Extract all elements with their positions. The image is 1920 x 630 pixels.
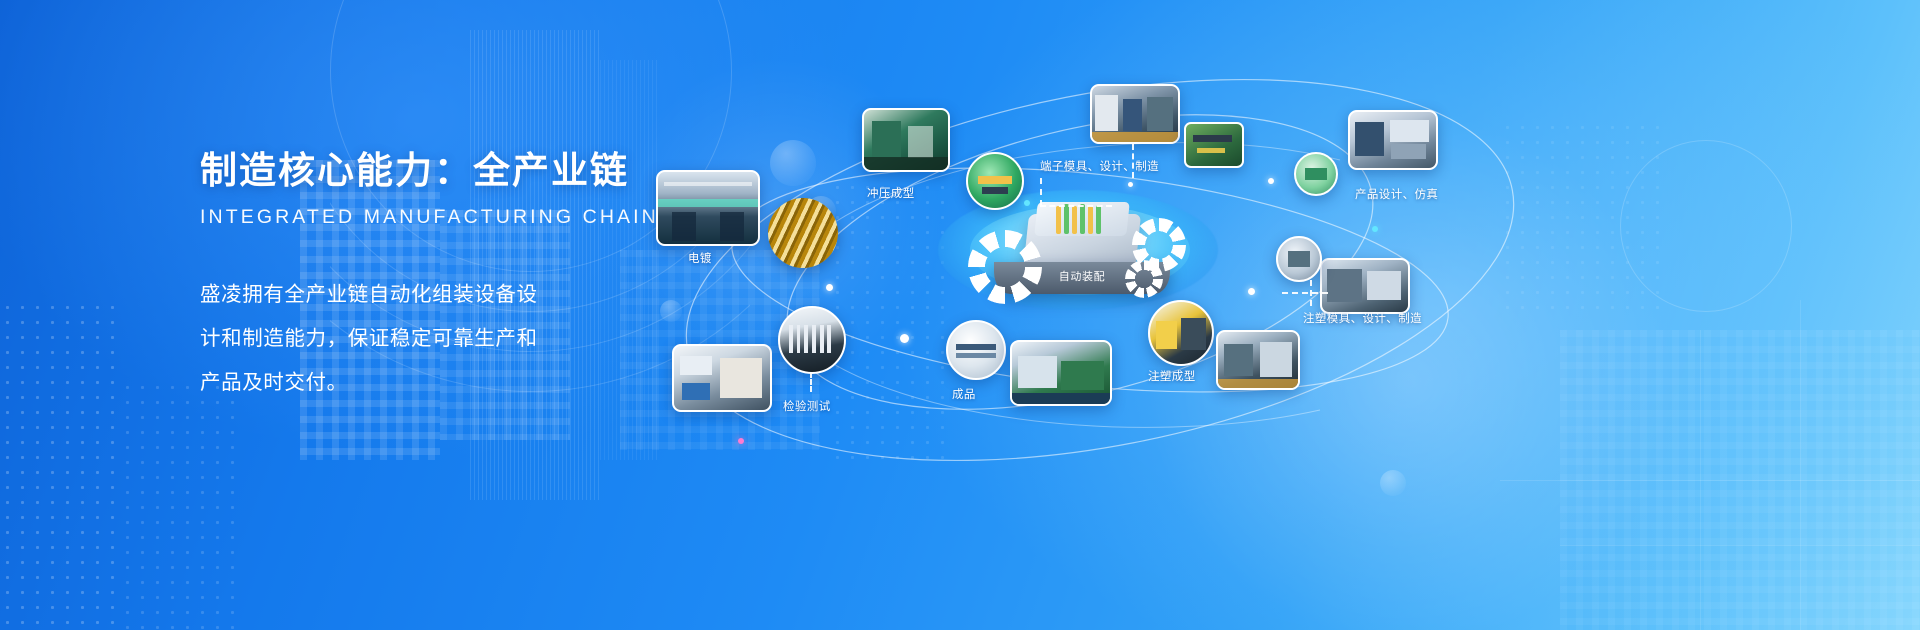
injection-mold-icon-circle xyxy=(1276,236,1322,282)
pcb-board-thumb xyxy=(1184,122,1244,168)
node-electroplating-thumb[interactable] xyxy=(656,170,760,246)
node-terminal-mold-connector xyxy=(1132,144,1134,178)
manufacturing-chain-diagram: 自动装配 电镀 冲压成型 xyxy=(620,0,1920,630)
product-design-icon-circle xyxy=(1294,152,1338,196)
page-subtitle: INTEGRATED MANUFACTURING CHAIN xyxy=(200,206,630,229)
node-stamping-thumb[interactable] xyxy=(862,108,950,172)
gear-large-left xyxy=(968,230,1042,304)
node-electroplating-label: 电镀 xyxy=(688,250,712,266)
connector-dash-vert-a xyxy=(1040,178,1042,206)
banner-stage: 制造核心能力：全产业链 INTEGRATED MANUFACTURING CHA… xyxy=(0,0,1920,630)
node-inspection-test-thumb[interactable] xyxy=(672,344,772,412)
node-injection-forming-label: 注塑成型 xyxy=(1148,368,1196,384)
node-terminal-mold-label: 端子模具、设计、制造 xyxy=(1040,158,1159,174)
orbit-dot-7 xyxy=(738,438,744,444)
connector-dash-mid xyxy=(1282,292,1328,294)
orbit-dot-1 xyxy=(900,334,909,343)
orbit-dot-5 xyxy=(1024,200,1030,206)
node-stamping-label: 冲压成型 xyxy=(867,185,915,201)
node-injection-mold-label: 注塑模具、设计、制造 xyxy=(1303,310,1422,326)
orbit-dot-4 xyxy=(1268,178,1274,184)
orbit-dot-6 xyxy=(1372,226,1378,232)
gear-small-right xyxy=(1125,260,1163,298)
pcb-green-circle xyxy=(966,152,1024,210)
orbit-dot-3 xyxy=(1248,288,1255,295)
connector-dash-top xyxy=(1040,205,1112,207)
production-line-thumb xyxy=(1010,340,1112,406)
page-title: 制造核心能力：全产业链 xyxy=(200,148,630,194)
node-inspection-test-label: 检验测试 xyxy=(783,398,831,414)
node-finished-product-thumb[interactable] xyxy=(946,320,1006,380)
orbit-dot-8 xyxy=(1128,182,1133,187)
orbit-dot-2 xyxy=(826,284,833,291)
node-product-design-label: 产品设计、仿真 xyxy=(1355,186,1438,202)
node-product-design-thumb[interactable] xyxy=(1348,110,1438,170)
machine-row-thumb xyxy=(1216,330,1300,390)
node-terminal-mold-thumb[interactable] xyxy=(1090,84,1180,144)
node-finished-product-label: 成品 xyxy=(952,386,976,402)
coil-image xyxy=(768,198,838,268)
connector-pins-circle xyxy=(778,306,846,374)
bg-dot-grid-left xyxy=(0,300,120,630)
text-block: 制造核心能力：全产业链 INTEGRATED MANUFACTURING CHA… xyxy=(200,148,630,405)
node-inspection-test-connector xyxy=(810,372,812,392)
node-injection-forming-thumb[interactable] xyxy=(1148,300,1214,366)
page-paragraph: 盛凌拥有全产业链自动化组装设备设计和制造能力，保证稳定可靠生产和产品及时交付。 xyxy=(200,273,552,405)
node-injection-mold-thumb[interactable] xyxy=(1320,258,1410,314)
bg-dot-grid-mid xyxy=(120,380,240,630)
